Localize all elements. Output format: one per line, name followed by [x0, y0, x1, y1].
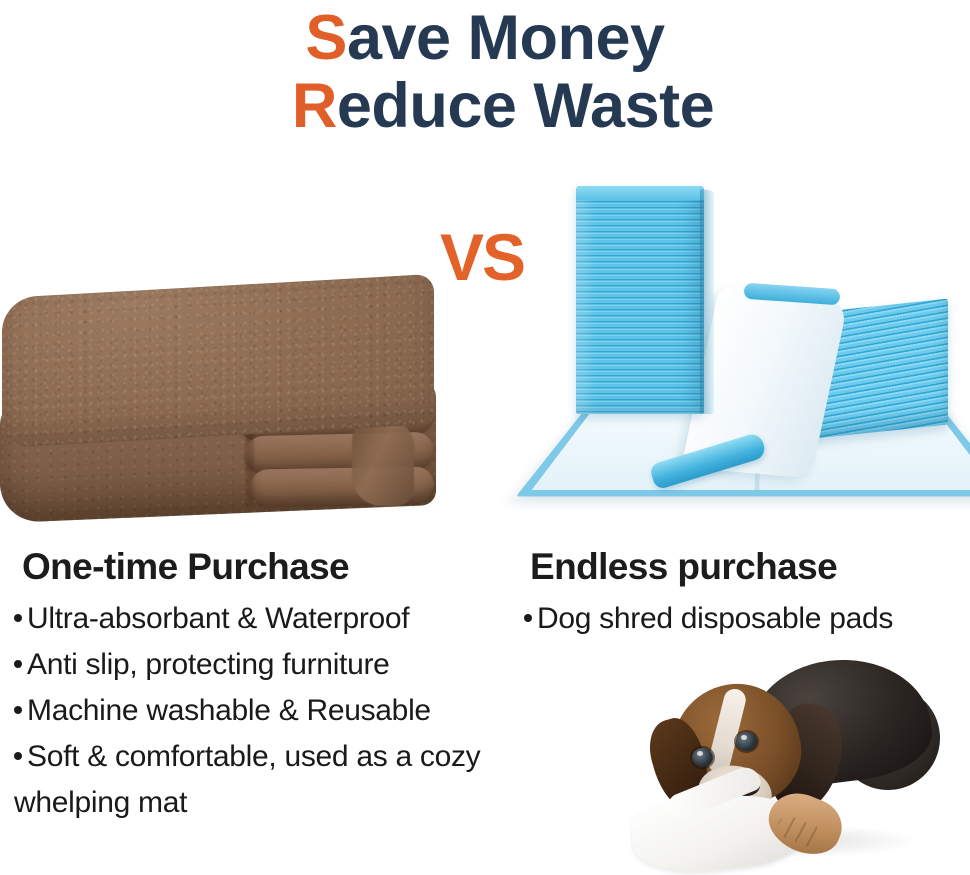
versus-label: VS [440, 224, 524, 290]
blanket-top-surface [2, 274, 434, 448]
puppy-photo [630, 648, 970, 875]
headline-cap-s: S [305, 3, 347, 73]
puppy-eye-left [692, 748, 713, 767]
page-title: Save Money Reduce Waste [0, 4, 970, 140]
headline-line-2-text: educe Waste [337, 71, 714, 141]
list-item: Soft & comfortable, used as a cozy whelp… [14, 734, 504, 826]
blanket-pleat [352, 420, 414, 506]
list-item: Dog shred disposable pads [524, 596, 970, 642]
right-column-bullet-list: Dog shred disposable pads [524, 596, 970, 642]
blanket-product-image [0, 278, 440, 528]
headline-cap-r: R [292, 71, 337, 141]
bullet-dot-icon [14, 706, 22, 714]
list-item: Machine washable & Reusable [14, 688, 504, 734]
left-column-heading: One-time Purchase [22, 546, 349, 588]
headline-line-1-text: ave Money [347, 3, 665, 73]
bullet-dot-icon [524, 614, 532, 622]
disposable-pads-product-image [548, 180, 970, 516]
list-item: Ultra-absorbant & Waterproof [14, 596, 504, 642]
bullet-dot-icon [14, 752, 22, 760]
right-column-heading: Endless purchase [530, 546, 837, 588]
puppy-eye-right [736, 732, 757, 751]
list-item: Anti slip, protecting furniture [14, 642, 504, 688]
left-column-bullet-list: Ultra-absorbant & Waterproof Anti slip, … [14, 596, 504, 826]
bullet-dot-icon [14, 614, 22, 622]
bullet-dot-icon [14, 660, 22, 668]
folded-fleece-blanket [0, 278, 440, 528]
pad-stack-tall [576, 186, 704, 414]
headline-line-2: Reduce Waste [0, 72, 970, 140]
headline-line-1: Save Money [0, 4, 970, 72]
